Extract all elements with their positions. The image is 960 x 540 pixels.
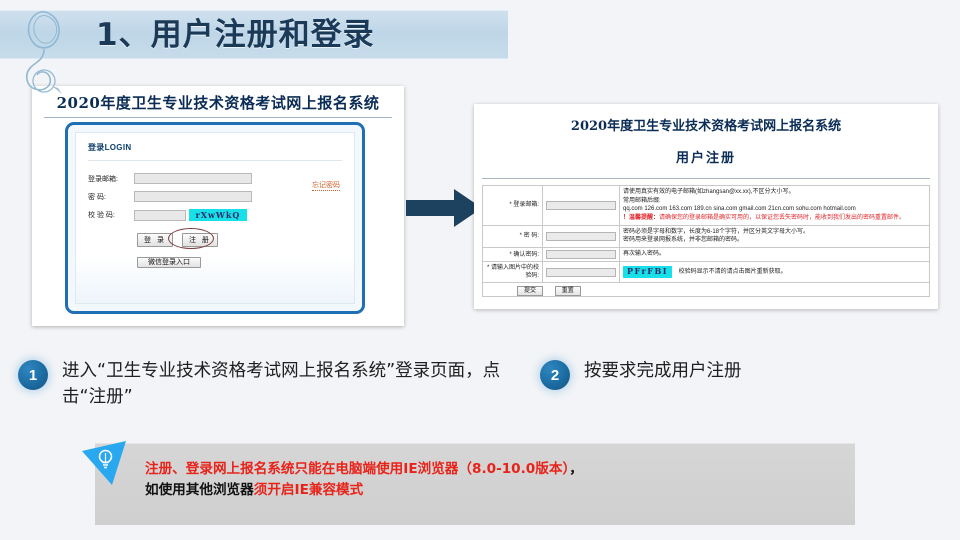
table-row: 提交 重置 — [483, 283, 930, 297]
email-hint-suffix-list: qq.com 126.com 163.com 189.cn sina.com g… — [623, 205, 926, 214]
left-login-screenshot: 2020年度卫生专业技术资格考试网上报名系统 登录LOGIN 登录邮箱: 密 码… — [32, 86, 404, 326]
wechat-login-button[interactable]: 微信登录入口 — [137, 257, 201, 268]
register-button-row: 提交 重置 — [483, 283, 930, 297]
callout-line-1-tail: ， — [569, 461, 583, 477]
email-input-cell — [543, 186, 620, 226]
callout-text: 注册、登录网上报名系统只能在电脑端使用IE浏览器（8.0-10.0版本）， 如使… — [145, 459, 841, 501]
caption-step-1-text: 进入“卫生专业技术资格考试网上报名系统”登录页面，点击“注册” — [62, 358, 508, 411]
step-number-badge: 1 — [18, 360, 48, 390]
register-highlight-ellipse — [168, 228, 214, 249]
caption-step-2-text: 按要求完成用户注册 — [584, 358, 742, 384]
captcha-hint-text: 校验码显示不清的请点击图片重新获取。 — [679, 269, 787, 275]
login-password-input[interactable] — [134, 191, 252, 202]
captcha-hints: PFrFBI 校验码显示不清的请点击图片重新获取。 — [620, 262, 930, 283]
forgot-password-link[interactable]: 忘记密码 — [312, 180, 340, 191]
divider — [88, 160, 342, 161]
caption-step-1: 1 进入“卫生专业技术资格考试网上报名系统”登录页面，点击“注册” — [18, 358, 508, 411]
confirm-password-hint: 再次输入密码。 — [620, 248, 930, 262]
step-number-badge: 2 — [540, 360, 570, 390]
password-input-cell — [543, 225, 620, 247]
login-email-label: 登录邮箱: — [88, 174, 134, 184]
right-register-screenshot: 2020年度卫生专业技术资格考试网上报名系统 用户注册 * 登录邮箱: 请使用真… — [474, 104, 938, 309]
email-warning-label: ！温馨提醒： — [623, 215, 659, 221]
confirm-password-field[interactable] — [546, 250, 616, 259]
email-hints: 请使用真实有效的电子邮箱(如zhangsan@xx.xx),不区分大小写。 常用… — [620, 186, 930, 226]
email-warning: ！温馨提醒：请确保您的登录邮箱是确实可用的，以保证您丢失密码时，能收到我们发出的… — [623, 214, 926, 223]
right-arrow-icon — [404, 186, 484, 230]
password-hint-line-2: 密码用来登录网报系统，并非您邮箱的密码。 — [623, 236, 926, 245]
captcha-field[interactable] — [546, 268, 616, 277]
callout-line-1: 注册、登录网上报名系统只能在电脑端使用IE浏览器（8.0-10.0版本）， — [145, 459, 841, 480]
callout-banner: 注册、登录网上报名系统只能在电脑端使用IE浏览器（8.0-10.0版本）， 如使… — [95, 443, 855, 525]
login-captcha-image[interactable]: rXwWkQ — [189, 209, 247, 221]
login-captcha-row: 校 验 码: rXwWkQ — [88, 209, 342, 221]
table-row: * 密 码: 密码必须是字母和数字，长度为6-18个字符，并区分英文字母大小写。… — [483, 225, 930, 247]
lightbulb-icon — [97, 449, 114, 470]
table-row: * 请输入图片中的校验码: PFrFBI 校验码显示不清的请点击图片重新获取。 — [483, 262, 930, 283]
password-field[interactable] — [546, 232, 616, 241]
divider — [44, 117, 392, 118]
reset-button[interactable]: 重置 — [555, 286, 581, 296]
divider — [482, 178, 930, 179]
login-captcha-label: 校 验 码: — [88, 210, 134, 220]
callout-line-2: 如使用其他浏览器须开启IE兼容模式 — [145, 480, 841, 501]
email-field[interactable] — [546, 201, 616, 210]
submit-button[interactable]: 提交 — [517, 286, 543, 296]
callout-line-2-red: 须开启IE兼容模式 — [254, 482, 364, 498]
confirm-password-input-cell — [543, 248, 620, 262]
callout-line-1-red: 注册、登录网上报名系统只能在电脑端使用IE浏览器（8.0-10.0版本） — [145, 461, 569, 477]
login-email-row: 登录邮箱: — [88, 173, 342, 184]
password-label: * 密 码: — [483, 225, 543, 247]
email-label: * 登录邮箱: — [483, 186, 543, 226]
password-hint-line-1: 密码必须是字母和数字，长度为6-18个字符，并区分英文字母大小写。 — [623, 228, 926, 237]
table-row: * 确认密码: 再次输入密码。 — [483, 248, 930, 262]
confirm-password-label: * 确认密码: — [483, 248, 543, 262]
registration-form-table: * 登录邮箱: 请使用真实有效的电子邮箱(如zhangsan@xx.xx),不区… — [482, 185, 930, 297]
login-password-label: 密 码: — [88, 192, 134, 202]
login-card: 登录LOGIN 登录邮箱: 密 码: 校 验 码: rXwWkQ 忘记密码 登 … — [75, 132, 355, 304]
login-captcha-input[interactable] — [134, 210, 186, 221]
login-heading: 登录LOGIN — [88, 142, 342, 153]
right-form-title: 用户注册 — [482, 134, 930, 166]
captcha-input-cell — [543, 262, 620, 283]
email-hint-line-2: 常用邮箱后缀: — [623, 197, 926, 206]
table-row: * 登录邮箱: 请使用真实有效的电子邮箱(如zhangsan@xx.xx),不区… — [483, 186, 930, 226]
captcha-label: * 请输入图片中的校验码: — [483, 262, 543, 283]
stethoscope-icon — [14, 4, 94, 96]
login-email-input[interactable] — [134, 173, 252, 184]
email-hint-line-1: 请使用真实有效的电子邮箱(如zhangsan@xx.xx),不区分大小写。 — [623, 188, 926, 197]
right-site-title: 2020年度卫生专业技术资格考试网上报名系统 — [482, 110, 930, 134]
login-box-outline: 登录LOGIN 登录邮箱: 密 码: 校 验 码: rXwWkQ 忘记密码 登 … — [65, 122, 365, 314]
login-button-row: 登 录 注 册 — [137, 233, 342, 247]
password-hints: 密码必须是字母和数字，长度为6-18个字符，并区分英文字母大小写。 密码用来登录… — [620, 225, 930, 247]
page-title: 1、用户注册和登录 — [96, 9, 375, 54]
caption-step-2: 2 按要求完成用户注册 — [540, 358, 940, 390]
login-password-row: 密 码: — [88, 191, 342, 202]
register-captcha-image[interactable]: PFrFBI — [623, 266, 672, 278]
callout-line-2-dark: 如使用其他浏览器 — [145, 482, 254, 498]
wechat-button-row: 微信登录入口 — [137, 251, 342, 269]
email-warning-text: 请确保您的登录邮箱是确实可用的，以保证您丢失密码时，能收到我们发出的密码重置邮件… — [659, 215, 905, 221]
